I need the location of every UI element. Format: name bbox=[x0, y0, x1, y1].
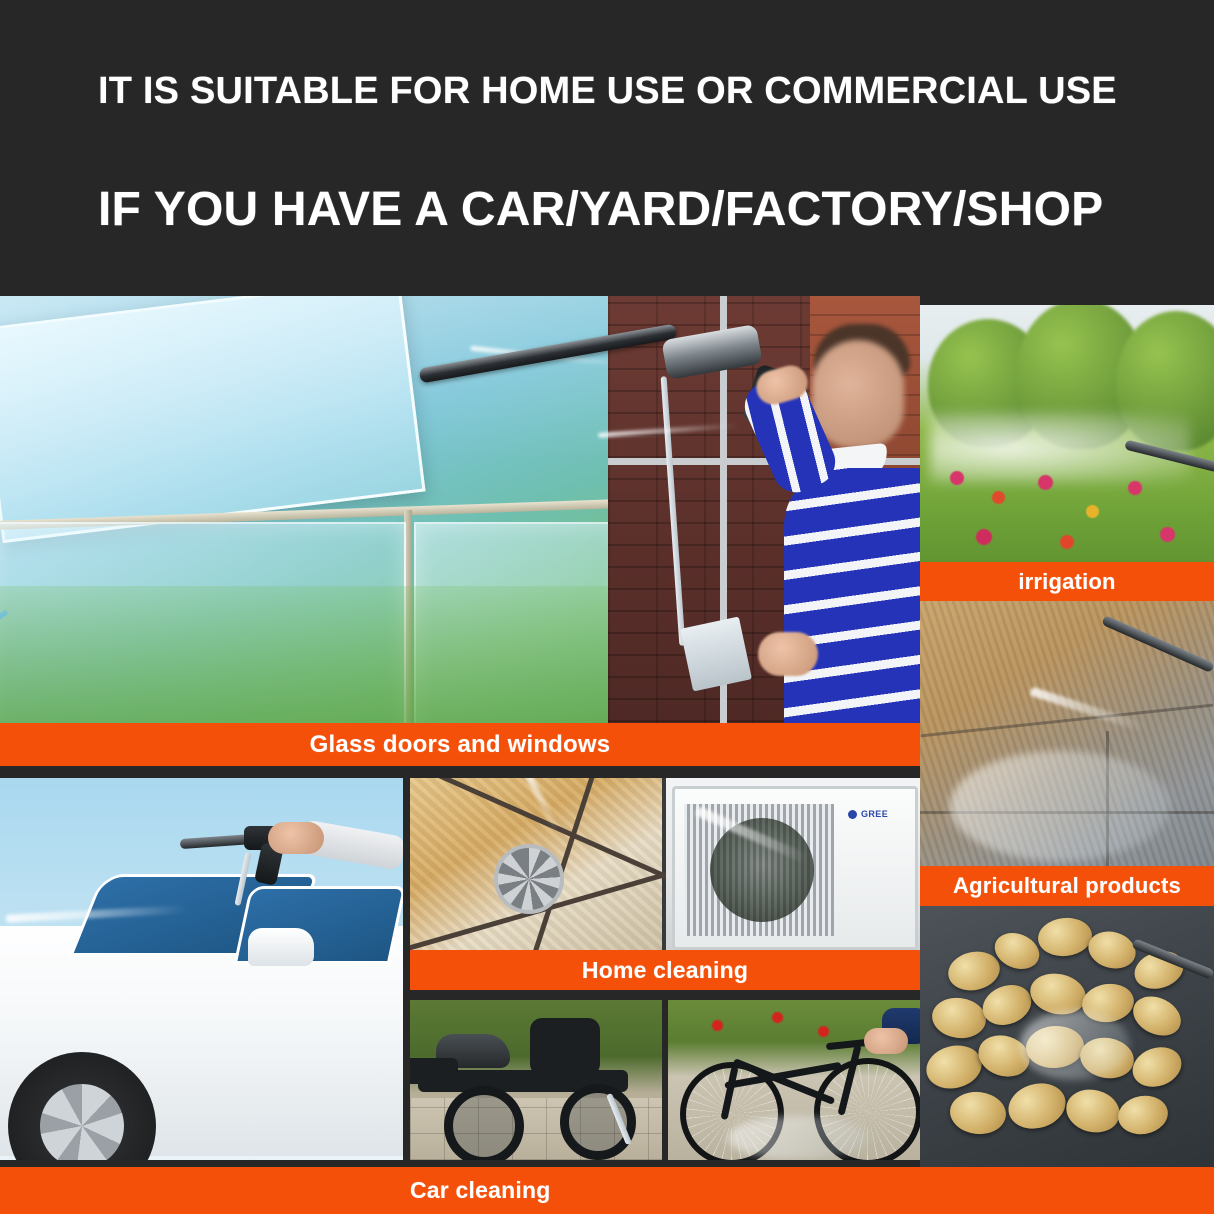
flower-accent bbox=[818, 1026, 829, 1037]
flower-a bbox=[950, 471, 964, 485]
paver-seam-1 bbox=[921, 704, 1214, 738]
car-wheel-rim bbox=[40, 1084, 124, 1160]
operator-hand-lower bbox=[758, 632, 818, 676]
scene-motorbike-wash bbox=[410, 1000, 662, 1160]
label-irrigation: irrigation bbox=[920, 562, 1214, 601]
bicycle-wet-ground bbox=[728, 1116, 868, 1160]
tile-motorbike bbox=[410, 1000, 662, 1160]
flower-e bbox=[1128, 481, 1142, 495]
operator-head-blurred bbox=[812, 340, 904, 448]
operator-hand-bicycle bbox=[864, 1028, 908, 1054]
flower-accent bbox=[712, 1020, 723, 1031]
scene-air-conditioner: GREE bbox=[666, 778, 920, 950]
label-agricultural-products: Agricultural products bbox=[920, 866, 1214, 906]
tile-glass-doors-windows: Glass doors and windows bbox=[0, 296, 920, 766]
label-irrigation-text: irrigation bbox=[1018, 569, 1115, 595]
scene-flower-field bbox=[920, 305, 1214, 601]
label-glass-doors-windows-text: Glass doors and windows bbox=[310, 731, 611, 759]
scene-car-wash bbox=[0, 778, 403, 1160]
potato bbox=[1062, 1084, 1125, 1138]
label-glass-doors-windows: Glass doors and windows bbox=[0, 723, 920, 766]
headline-secondary: IF YOU HAVE A CAR/YARD/FACTORY/SHOP bbox=[98, 182, 1103, 237]
flower-c bbox=[1038, 475, 1053, 490]
ac-brand-logo-icon bbox=[848, 810, 857, 819]
scene-bicycle-wash bbox=[668, 1000, 920, 1160]
potato bbox=[945, 947, 1004, 995]
motorbike-wheel bbox=[560, 1084, 636, 1160]
potato bbox=[929, 994, 988, 1041]
car-wash-operator-hand bbox=[268, 822, 324, 854]
scene-operator-brickwall bbox=[608, 296, 920, 766]
potato bbox=[1127, 989, 1188, 1043]
potato bbox=[1084, 926, 1140, 974]
potato bbox=[1003, 1077, 1071, 1135]
flower-d bbox=[1086, 505, 1099, 518]
motorbike-wheel bbox=[444, 1086, 524, 1160]
motorbike-rear-rack bbox=[410, 1058, 458, 1084]
tile-agricultural-ground bbox=[920, 601, 1214, 866]
potato-water-sheen bbox=[1020, 1010, 1130, 1080]
flower-accent bbox=[772, 1012, 783, 1023]
tile-irrigation: irrigation bbox=[920, 305, 1214, 601]
ground-wash-lance bbox=[1101, 615, 1214, 673]
wet-surface-sheen bbox=[950, 751, 1170, 861]
ac-brand-text: GREE bbox=[861, 809, 888, 819]
flower-h bbox=[1160, 527, 1175, 542]
potato bbox=[948, 1089, 1008, 1137]
potato bbox=[1036, 915, 1094, 958]
scene-ground-wash bbox=[920, 601, 1214, 866]
headline-primary: IT IS SUITABLE FOR HOME USE OR COMMERCIA… bbox=[98, 70, 1117, 113]
potato bbox=[922, 1040, 986, 1094]
label-car-cleaning-text: Car cleaning bbox=[410, 1177, 550, 1204]
label-car-cleaning: Car cleaning bbox=[0, 1167, 1214, 1214]
floor-drain-grate bbox=[494, 844, 564, 914]
pressure-hose-lower bbox=[680, 616, 752, 691]
motorbike-front-body bbox=[530, 1018, 600, 1076]
flower-b bbox=[992, 491, 1005, 504]
flower-f bbox=[976, 529, 992, 545]
scene-washing-potatoes bbox=[920, 906, 1214, 1168]
scene-floor-drain bbox=[410, 778, 662, 950]
header-banner: IT IS SUITABLE FOR HOME USE OR COMMERCIA… bbox=[0, 0, 1214, 288]
label-home-cleaning: Home cleaning bbox=[410, 950, 920, 990]
tile-agricultural-products: Agricultural products bbox=[920, 866, 1214, 1168]
greenhouse-open-pane bbox=[0, 296, 426, 543]
operator-striped-sweater bbox=[784, 468, 920, 728]
ground-wash-jet bbox=[1030, 687, 1147, 733]
flower-g bbox=[1060, 535, 1074, 549]
pressure-hose bbox=[661, 376, 686, 646]
potato bbox=[1115, 1092, 1171, 1138]
tile-car-cleaning bbox=[0, 778, 403, 1160]
label-home-cleaning-text: Home cleaning bbox=[582, 957, 748, 984]
potato bbox=[1127, 1041, 1187, 1094]
tile-home-cleaning: GREE Home cleaning bbox=[410, 778, 920, 990]
pressure-wand-nozzle-body bbox=[661, 324, 762, 380]
label-agricultural-products-text: Agricultural products bbox=[953, 873, 1181, 899]
tile-bicycle bbox=[668, 1000, 920, 1160]
promo-poster: IT IS SUITABLE FOR HOME USE OR COMMERCIA… bbox=[0, 0, 1214, 1214]
car-side-mirror bbox=[248, 928, 314, 966]
